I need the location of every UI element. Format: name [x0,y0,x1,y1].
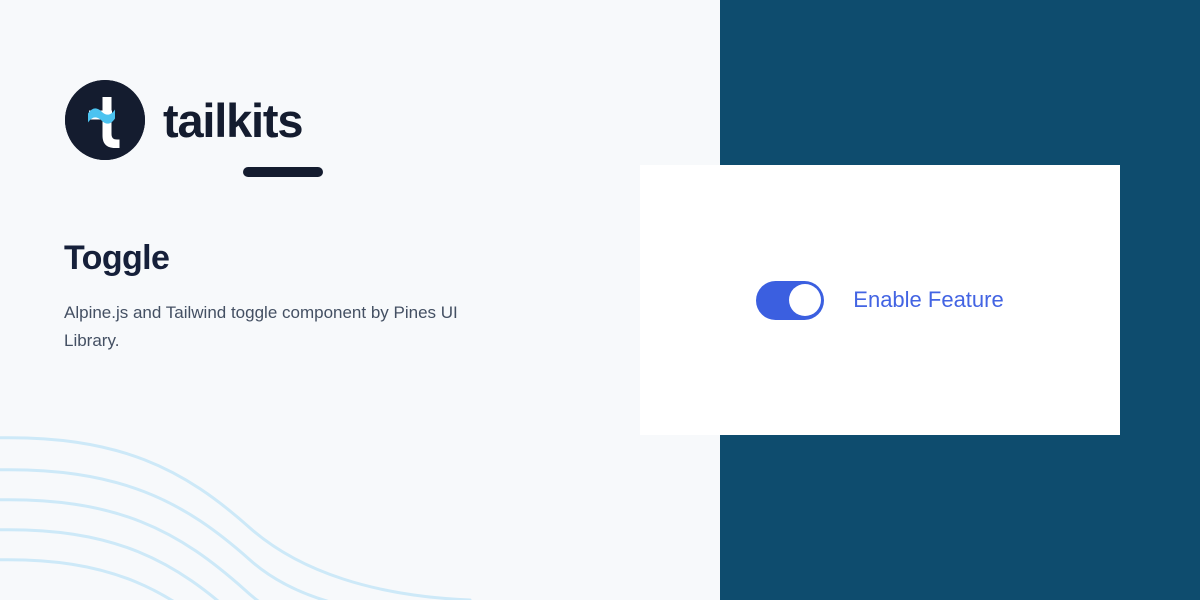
left-content-column: tailkits Toggle Alpine.js and Tailwind t… [0,0,720,600]
page-root: tailkits Toggle Alpine.js and Tailwind t… [0,0,1200,600]
brand-wordmark: tailkits [163,97,302,144]
toggle-row[interactable]: Enable Feature [756,281,1003,320]
tailkits-logo-icon [65,80,145,160]
brand-logo[interactable]: tailkits [65,80,302,160]
toggle-knob [789,284,821,316]
component-preview-card: Enable Feature [640,165,1120,435]
page-description: Alpine.js and Tailwind toggle component … [64,299,494,355]
brand-underline-rule [243,167,323,177]
page-title: Toggle [64,240,169,277]
toggle-label[interactable]: Enable Feature [853,287,1003,313]
enable-feature-toggle[interactable] [756,281,824,320]
